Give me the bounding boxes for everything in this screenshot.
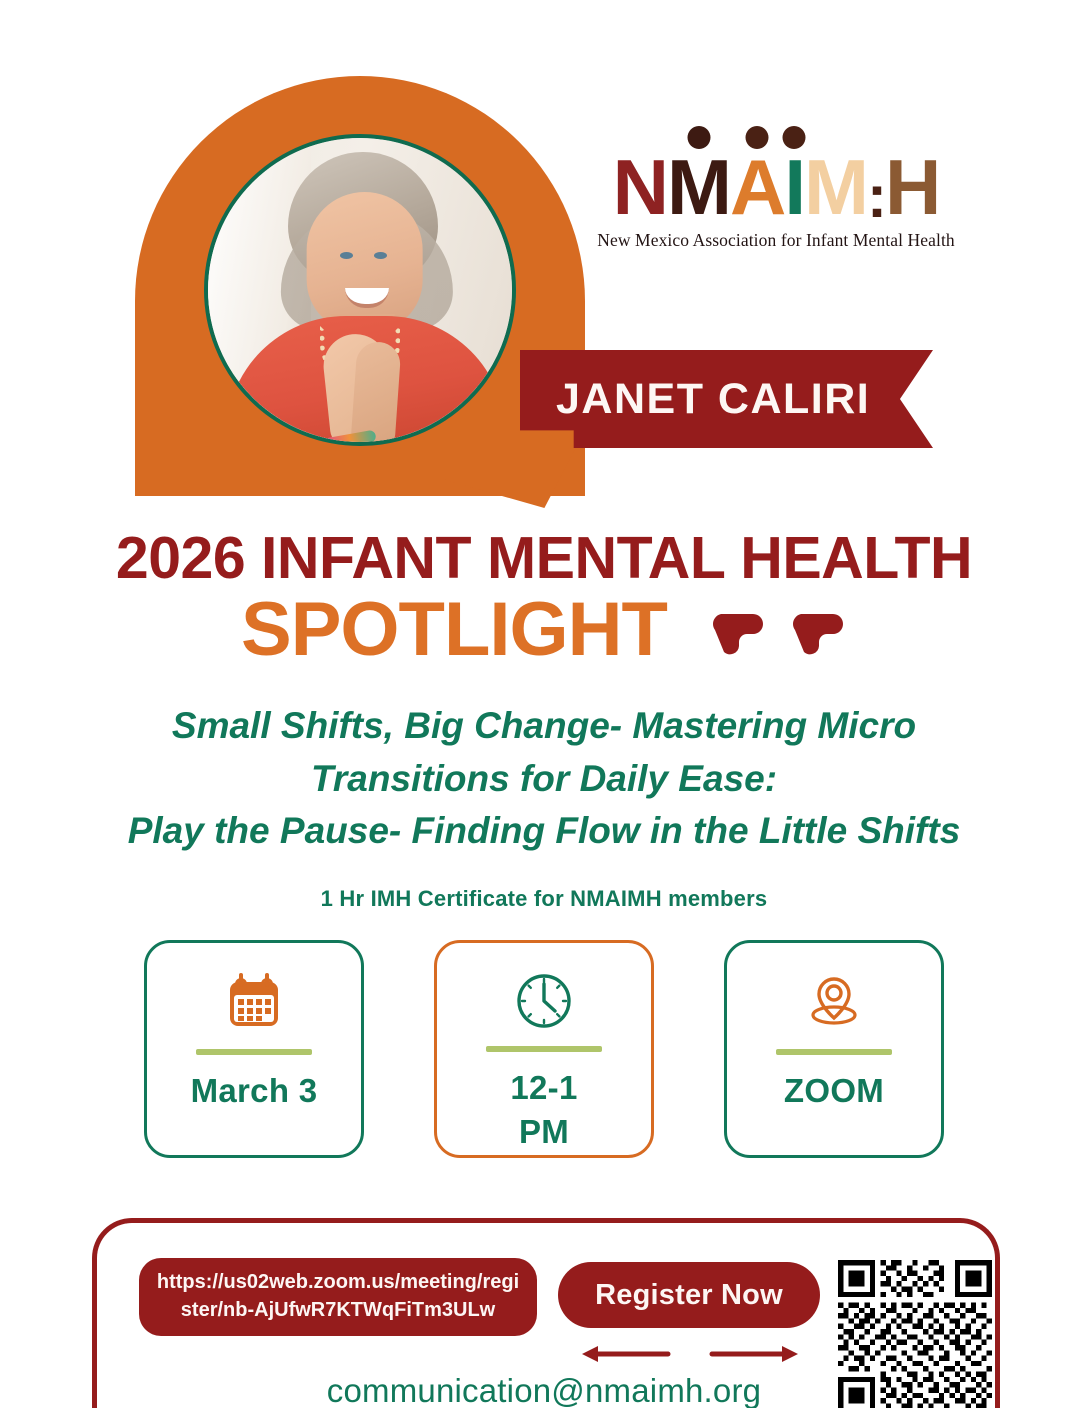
logo-head-icon [746, 126, 769, 149]
info-cards: March 3 12-1 PM [144, 940, 944, 1158]
logo-letter-dot: : [867, 169, 885, 224]
speaker-name-banner: JANET CALIRI [520, 350, 933, 448]
logo-letter-n: N [613, 152, 667, 224]
title-line-2: SPOTLIGHT [241, 586, 667, 673]
logo-wordmark: N M A I M : H [596, 152, 956, 224]
session-subtitle: Small Shifts, Big Change- Mastering Micr… [60, 700, 1028, 858]
info-card-location: ZOOM [724, 940, 944, 1158]
speaker-name: JANET CALIRI [520, 375, 870, 424]
heart-icon [791, 606, 847, 662]
info-card-time: 12-1 PM [434, 940, 654, 1158]
heart-icon [711, 606, 767, 662]
subtitle-line-1: Small Shifts, Big Change- Mastering Micr… [60, 700, 1028, 753]
register-now-label: Register Now [595, 1279, 783, 1312]
logo-letter-m1: M [667, 152, 730, 224]
info-card-date-label: March 3 [191, 1069, 318, 1114]
heart-decorations [711, 606, 847, 662]
certificate-note: 1 Hr IMH Certificate for NMAIMH members [0, 886, 1088, 912]
registration-url: https://us02web.zoom.us/meeting/register… [155, 1269, 521, 1324]
speaker-photo [204, 134, 516, 446]
subtitle-line-3: Play the Pause- Finding Flow in the Litt… [60, 805, 1028, 858]
card-divider [776, 1049, 892, 1055]
logo-head-icon [783, 126, 806, 149]
logo-letter-i: I [784, 152, 804, 224]
info-card-time-label: 12-1 PM [510, 1066, 577, 1155]
info-card-location-label: ZOOM [784, 1069, 884, 1114]
title-line-1: 2026 INFANT MENTAL HEALTH [0, 524, 1088, 592]
registration-url-pill[interactable]: https://us02web.zoom.us/meeting/register… [139, 1258, 537, 1336]
clock-icon [513, 967, 575, 1034]
pointing-arrows [560, 1340, 820, 1368]
flyer-page: N M A I M : H New Mexico Association for… [0, 0, 1088, 1408]
subtitle-line-2: Transitions for Daily Ease: [60, 753, 1028, 806]
card-divider [196, 1049, 312, 1055]
logo-head-icon [687, 126, 710, 149]
logo-letter-a: A [730, 152, 784, 224]
nmaimh-logo: N M A I M : H New Mexico Association for… [596, 152, 956, 251]
title-line-2-row: SPOTLIGHT [0, 586, 1088, 673]
location-pin-icon [803, 967, 865, 1037]
contact-email[interactable]: communication@nmaimh.org [0, 1372, 1088, 1408]
hero-section: N M A I M : H New Mexico Association for… [0, 0, 1088, 520]
card-divider [486, 1046, 602, 1052]
logo-tagline: New Mexico Association for Infant Mental… [596, 230, 956, 251]
logo-letter-m2: M [804, 152, 867, 224]
calendar-icon [223, 967, 285, 1037]
register-now-button[interactable]: Register Now [558, 1262, 820, 1328]
info-card-date: March 3 [144, 940, 364, 1158]
logo-letter-h: H [885, 152, 939, 224]
